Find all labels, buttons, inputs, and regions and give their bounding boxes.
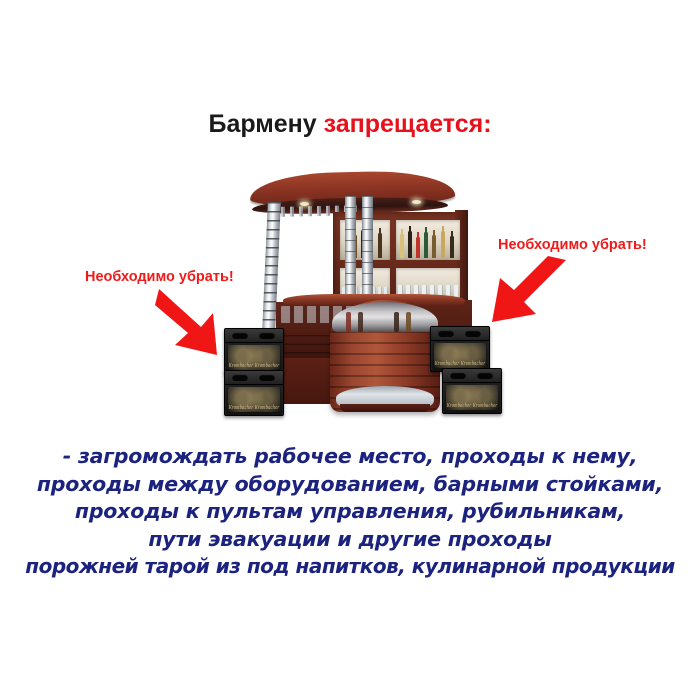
prohibition-list: - загромождать рабочее место, проходы к …	[0, 443, 700, 581]
page-title: Бармену запрещается:	[0, 112, 700, 137]
slide-canvas: Бармену запрещается:	[0, 0, 700, 700]
body-line: проходы к пультам управления, рубильника…	[0, 498, 700, 526]
counter-foot	[340, 404, 430, 412]
bottle-shelf	[396, 220, 460, 260]
left-arrow-icon	[155, 283, 245, 363]
title-red-part: запрещается:	[324, 110, 492, 138]
body-line: проходы между оборудованием, барными сто…	[0, 471, 700, 499]
body-line: пути эвакуации и другие проходы	[0, 526, 700, 554]
canopy-light-icon	[412, 200, 421, 204]
right-arrow-icon	[488, 256, 578, 346]
crate-brand-label: Krombacher	[229, 404, 254, 413]
body-line: - загромождать рабочее место, проходы к …	[0, 443, 700, 471]
crate-brand-label: Krombacher	[473, 402, 498, 411]
right-annotation-label: Необходимо убрать!	[498, 238, 647, 253]
body-line: порожней тарой из под напитков, кулинарн…	[0, 553, 700, 581]
counter-chrome-base	[336, 386, 434, 406]
crate-brand-label: Krombacher	[255, 404, 280, 413]
counter-left-wing	[276, 358, 336, 404]
beer-crate: Krombacher Krombacher	[430, 326, 490, 372]
crate-brand-label: Krombacher	[447, 402, 472, 411]
title-black-part: Бармену	[208, 110, 323, 138]
canopy-light-icon	[300, 202, 309, 206]
left-annotation-label: Необходимо убрать!	[85, 270, 234, 285]
beer-crate: Krombacher Krombacher	[224, 370, 284, 416]
beer-crate: Krombacher Krombacher	[442, 368, 502, 414]
bar-photo: Krombacher Krombacher Krombacher Krombac…	[0, 150, 700, 440]
